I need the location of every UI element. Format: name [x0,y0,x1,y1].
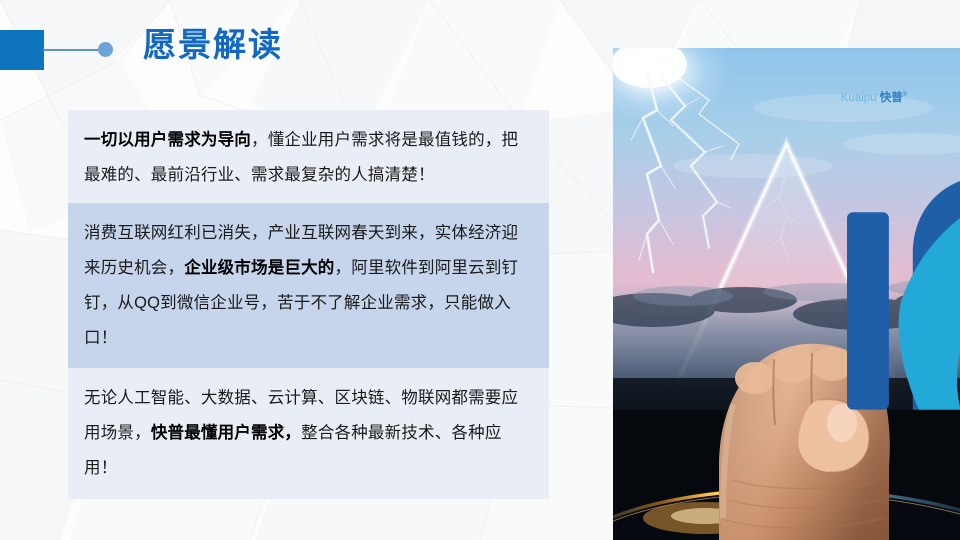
block-2-bold-mid: 企业级市场是巨大的 [184,259,334,277]
block-1-bold-lead: 一切以用户需求为导向 [84,131,251,149]
content-block-3: 无论人工智能、大数据、云计算、区块链、物联网都需要应用场景，快普最懂用户需求，整… [68,368,549,499]
content-block-1: 一切以用户需求为导向，懂企业用户需求将是最值钱的，把最难的、最前沿行业、需求最复… [68,110,549,206]
header-accent-dot [98,42,113,57]
hero-photo: Kuaipu 快普® [613,48,960,540]
header-accent-square [0,30,44,70]
page-title: 愿景解读 [143,22,283,68]
content-block-2: 消费互联网红利已消失，产业互联网春天到来，实体经济迎来历史机会，企业级市场是巨大… [68,203,549,369]
slide-root: 愿景解读 一切以用户需求为导向，懂企业用户需求将是最值钱的，把最难的、最前沿行业… [0,0,960,540]
header-connector-line [43,49,105,51]
block-3-bold-mid: 快普最懂用户需求， [151,424,301,442]
